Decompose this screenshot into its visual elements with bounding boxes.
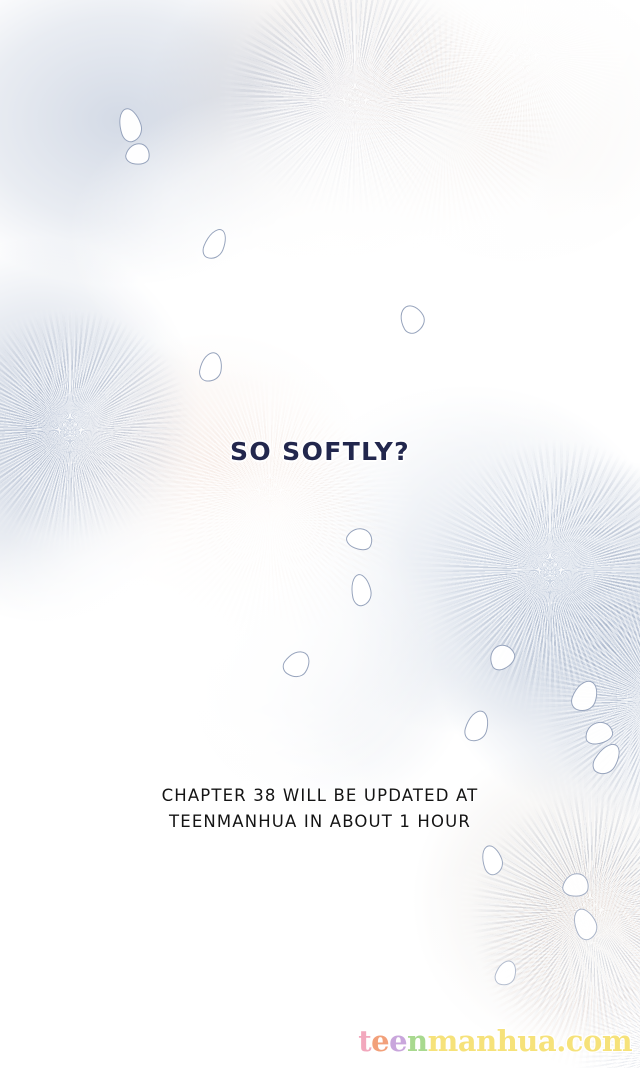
watermark-letter: o xyxy=(583,1024,602,1058)
dandelion-puff-texture-dark xyxy=(0,0,640,1068)
dandelion-puff-texture-white xyxy=(0,0,640,1068)
seed-petal xyxy=(462,708,492,745)
dandelion-puff xyxy=(400,0,640,180)
seed-petal xyxy=(279,646,315,683)
seed-petal xyxy=(589,739,625,779)
watermark-letter: a xyxy=(458,1024,476,1058)
seed-petal xyxy=(114,105,145,144)
update-notice-line-2: TEENMANHUA IN ABOUT 1 HOUR xyxy=(0,809,640,835)
watermark-letter: e xyxy=(371,1024,389,1058)
site-watermark: teenmanhua.com xyxy=(358,1027,632,1056)
dandelion-puff xyxy=(430,440,640,700)
watermark-letter: . xyxy=(556,1024,566,1058)
dandelion-puff xyxy=(215,0,495,240)
watermark-letter: c xyxy=(566,1024,583,1058)
dandelion-puff xyxy=(0,300,200,560)
seed-petal xyxy=(124,140,153,167)
dandelion-puff xyxy=(0,310,190,540)
watermark-letter: n xyxy=(476,1024,497,1058)
dandelion-puff xyxy=(230,0,480,220)
seed-petal xyxy=(485,641,519,674)
dialogue-headline: SO SOFTLY? xyxy=(0,437,640,466)
white-haze-overlay xyxy=(0,0,640,1068)
update-notice: CHAPTER 38 WILL BE UPDATED AT TEENMANHUA… xyxy=(0,783,640,835)
seed-petal xyxy=(348,572,374,607)
watermark-letter: m xyxy=(428,1024,458,1058)
dandelion-puff xyxy=(330,10,560,240)
watermark-letter: h xyxy=(497,1024,518,1058)
dandelion-puff-texture-warm xyxy=(0,0,640,1068)
watermark-letter: t xyxy=(358,1024,371,1058)
seed-petal xyxy=(200,225,231,262)
dandelion-puff xyxy=(120,340,420,640)
seed-petal xyxy=(568,677,601,715)
dandelion-puff xyxy=(150,400,390,640)
watermark-letter: a xyxy=(538,1024,556,1058)
seed-petal xyxy=(584,720,615,746)
watermark-letter: n xyxy=(407,1024,428,1058)
watermark-letter: e xyxy=(389,1024,407,1058)
seed-petal xyxy=(198,350,225,383)
seed-petal xyxy=(568,905,602,943)
floating-seed-petals xyxy=(0,0,640,1068)
watermark-letter: u xyxy=(517,1024,538,1058)
seed-petal xyxy=(395,301,430,337)
seed-petal xyxy=(561,871,591,900)
watercolor-wash-background xyxy=(0,0,640,1068)
update-notice-line-1: CHAPTER 38 WILL BE UPDATED AT xyxy=(0,783,640,809)
seed-petal xyxy=(477,842,506,877)
seed-petal xyxy=(492,958,519,989)
seed-petal xyxy=(343,523,376,555)
comic-page: SO SOFTLY? CHAPTER 38 WILL BE UPDATED AT… xyxy=(0,0,640,1068)
watermark-letter: m xyxy=(602,1024,632,1058)
white-vignette-overlay xyxy=(0,0,640,1068)
